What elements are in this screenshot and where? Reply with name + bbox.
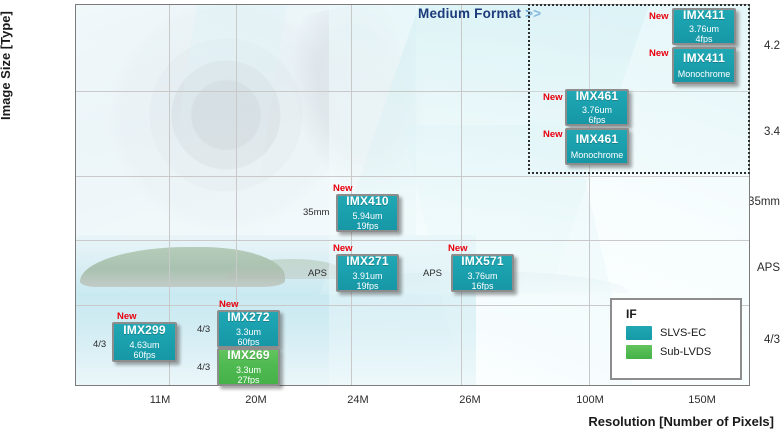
chip-spec1: 3.76um <box>582 105 612 115</box>
gridline-horizontal-2 <box>76 176 750 177</box>
chip-imx269[interactable]: IMX269 3.3um 27fps <box>217 348 280 386</box>
x-axis-title: Resolution [Number of Pixels] <box>588 414 774 429</box>
chip-name: IMX411 <box>683 9 725 22</box>
size-label-imx271: APS <box>308 268 327 279</box>
chip-name: IMX411 <box>683 52 725 65</box>
legend-label-sub-lvds: Sub-LVDS <box>660 346 711 358</box>
chip-spec1: 3.76um <box>467 271 497 281</box>
chip-spec2: 60fps <box>237 337 259 347</box>
chip-imx272[interactable]: IMX272 3.3um 60fps <box>217 310 280 348</box>
sensor-lineup-chart: Image Size [Type] 4.2 3.4 35mm APS 4/3 M… <box>0 0 780 440</box>
chip-name: IMX272 <box>227 311 270 324</box>
new-tag-imx410: New <box>333 183 353 194</box>
legend-swatch-slvs-ec <box>626 326 652 340</box>
chip-spec2: 4fps <box>695 34 712 44</box>
chip-name: IMX271 <box>346 255 389 268</box>
chip-name: IMX461 <box>576 90 619 103</box>
x-tick-20m: 20M <box>216 394 296 406</box>
new-tag-imx461-mono: New <box>543 129 563 140</box>
legend-box: IF SLVS-EC Sub-LVDS <box>610 298 742 380</box>
chip-spec2: 19fps <box>356 221 378 231</box>
legend-label-slvs-ec: SLVS-EC <box>660 327 706 339</box>
legend-title: IF <box>626 307 740 321</box>
chip-spec2: 16fps <box>471 281 493 291</box>
chip-spec1: Monochrome <box>571 150 624 160</box>
gridline-horizontal-3 <box>76 240 750 241</box>
x-tick-100m: 100M <box>550 394 630 406</box>
size-label-imx410: 35mm <box>303 207 329 218</box>
chip-spec1: Monochrome <box>678 69 731 79</box>
x-tick-11m: 11M <box>120 394 200 406</box>
chip-spec1: 3.76um <box>689 24 719 34</box>
chip-name: IMX571 <box>461 255 504 268</box>
legend-swatch-sub-lvds <box>626 345 652 359</box>
chip-imx411[interactable]: IMX411 3.76um 4fps <box>672 8 736 45</box>
chip-name: IMX461 <box>576 133 619 146</box>
chip-spec1: 5.94um <box>352 211 382 221</box>
new-tag-imx461: New <box>543 92 563 103</box>
medium-format-banner: Medium Format >> <box>418 6 541 21</box>
new-tag-imx299: New <box>117 311 137 322</box>
x-tick-26m: 26M <box>430 394 510 406</box>
chip-imx299[interactable]: IMX299 4.63um 60fps <box>112 322 177 362</box>
gridline-vertical-4 <box>461 5 462 386</box>
size-label-imx571: APS <box>423 268 442 279</box>
chip-name: IMX269 <box>227 349 270 362</box>
chip-spec2: 19fps <box>356 281 378 291</box>
chip-name: IMX299 <box>123 324 166 337</box>
chip-spec2: 27fps <box>237 375 259 385</box>
size-label-imx272: 4/3 <box>197 324 210 335</box>
legend-item-sub-lvds[interactable]: Sub-LVDS <box>626 345 740 359</box>
chip-imx410[interactable]: IMX410 5.94um 19fps <box>336 194 399 232</box>
size-label-imx269: 4/3 <box>197 362 210 373</box>
chip-imx461[interactable]: IMX461 3.76um 6fps <box>565 89 629 126</box>
chip-spec1: 3.3um <box>236 365 261 375</box>
chip-imx571[interactable]: IMX571 3.76um 16fps <box>451 254 514 292</box>
medium-format-label: Medium Format <box>418 6 521 21</box>
chip-spec2: 6fps <box>588 115 605 125</box>
chip-name: IMX410 <box>346 195 389 208</box>
new-tag-imx411: New <box>649 11 669 22</box>
chip-spec1: 3.3um <box>236 327 261 337</box>
chip-spec2: 60fps <box>133 350 155 360</box>
chip-imx461-monochrome[interactable]: IMX461 Monochrome <box>565 128 629 165</box>
new-tag-imx571: New <box>448 243 468 254</box>
y-axis-title: Image Size [Type] <box>0 0 20 120</box>
new-tag-imx271: New <box>333 243 353 254</box>
size-label-imx299: 4/3 <box>93 339 106 350</box>
chip-spec1: 4.63um <box>129 340 159 350</box>
chip-imx411-monochrome[interactable]: IMX411 Monochrome <box>672 47 736 84</box>
chip-imx271[interactable]: IMX271 3.91um 19fps <box>336 254 399 292</box>
legend-item-slvs-ec[interactable]: SLVS-EC <box>626 326 740 340</box>
new-tag-imx272: New <box>219 299 239 310</box>
chip-spec1: 3.91um <box>352 271 382 281</box>
x-tick-24m: 24M <box>318 394 398 406</box>
new-tag-imx411-mono: New <box>649 48 669 59</box>
x-tick-150m: 150M <box>662 394 742 406</box>
